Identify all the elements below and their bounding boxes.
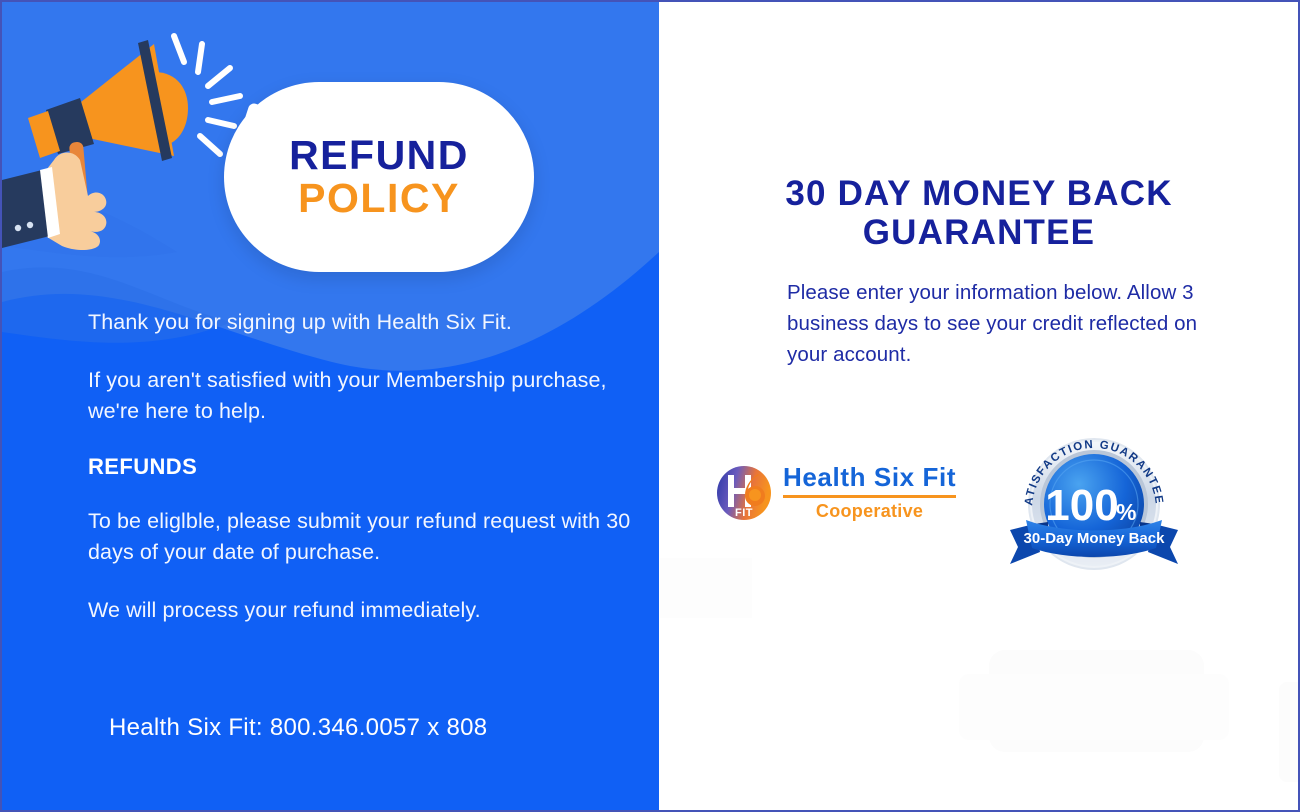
badge-ribbon-text: 30-Day Money Back <box>1024 530 1166 547</box>
right-white-panel: 30 DAY MONEY BACK GUARANTEE Please enter… <box>659 2 1298 810</box>
refunds-heading: REFUNDS <box>88 454 633 480</box>
health-six-fit-logo: FIT Health Six Fit Cooperative <box>715 464 956 522</box>
policy-body-text: Thank you for signing up with Health Six… <box>88 307 633 653</box>
logo-tagline: Cooperative <box>783 501 956 522</box>
logo-company-name: Health Six Fit <box>783 464 956 491</box>
logo-wordmark: Health Six Fit Cooperative <box>783 464 956 522</box>
megaphone-icon <box>2 20 252 250</box>
left-blue-panel: REFUND POLICY Thank you for signing up w… <box>2 2 659 810</box>
policy-paragraph-1: Thank you for signing up with Health Six… <box>88 307 633 338</box>
hero-illustration-area: REFUND POLICY <box>2 2 659 277</box>
svg-text:FIT: FIT <box>735 507 753 519</box>
policy-paragraph-4: We will process your refund immediately. <box>88 595 633 626</box>
logo-divider-rule <box>783 495 956 498</box>
title-line-policy: POLICY <box>298 177 460 220</box>
badge-percent-number: 100 <box>1045 481 1118 530</box>
watermark-shape-b <box>959 674 1229 740</box>
watermark-shape-d <box>1279 682 1298 782</box>
badge-percent-symbol: % <box>1116 499 1136 525</box>
satisfaction-guaranteed-badge-icon: SATISFACTION GUARANTEED 100 % 30-Day Mon… <box>1004 424 1204 584</box>
guarantee-title: 30 DAY MONEY BACK GUARANTEE <box>699 174 1259 252</box>
policy-paragraph-2: If you aren't satisfied with your Member… <box>88 365 633 427</box>
contact-phone-line: Health Six Fit: 800.346.0057 x 808 <box>109 714 487 742</box>
refund-policy-title-bubble: REFUND POLICY <box>224 82 534 272</box>
title-line-refund: REFUND <box>289 134 469 177</box>
h6-fit-logo-mark-icon: FIT <box>715 464 773 522</box>
policy-paragraph-3: To be eliglble, please submit your refun… <box>88 506 633 568</box>
refund-policy-page: REFUND POLICY Thank you for signing up w… <box>0 0 1300 812</box>
watermark-shape-c <box>660 558 752 618</box>
instructions-text: Please enter your information below. All… <box>787 277 1207 370</box>
